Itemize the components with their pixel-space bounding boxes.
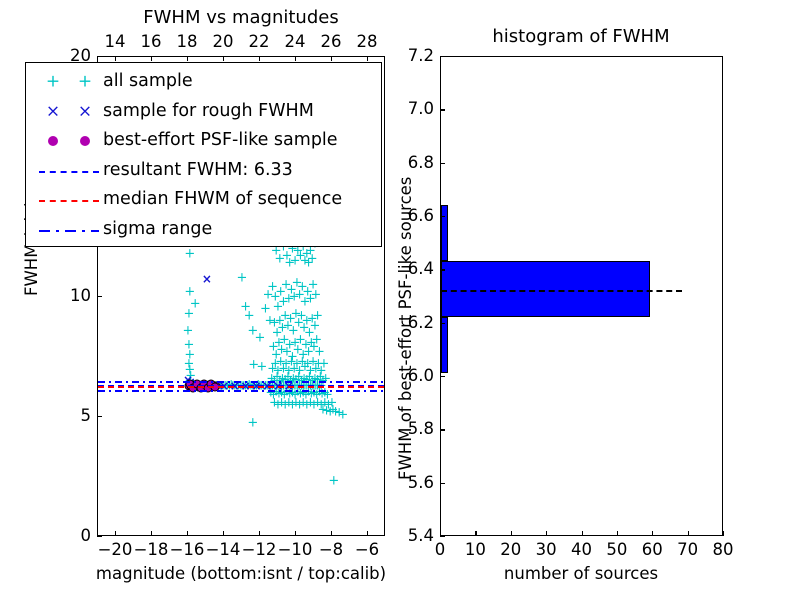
scatter-point: +	[282, 346, 293, 359]
scatter-point: +	[295, 250, 306, 263]
plus-icon: +	[46, 74, 60, 91]
axis-tick	[723, 531, 724, 536]
axis-tick	[440, 56, 445, 57]
axis-tick	[440, 536, 445, 537]
histogram-bar	[441, 261, 650, 317]
scatter-point: +	[184, 364, 195, 377]
scatter-xlabel: magnitude (bottom:isnt / top:calib)	[96, 566, 386, 583]
scatter-point: +	[309, 341, 320, 354]
scatter-point: +	[287, 399, 298, 412]
axis-tick-label: 26	[321, 34, 342, 51]
axis-tick	[617, 531, 618, 536]
scatter-point: +	[327, 403, 338, 416]
axis-tick-label: −20	[98, 542, 133, 559]
scatter-point: +	[183, 307, 194, 320]
scatter-point: +	[283, 293, 294, 306]
scatter-point: +	[334, 407, 345, 420]
scatter-point: +	[300, 339, 311, 352]
scatter-point: +	[325, 406, 336, 419]
scatter-point: +	[284, 339, 295, 352]
axis-tick	[367, 531, 368, 536]
scatter-point: +	[294, 365, 305, 378]
axis-tick	[440, 269, 445, 270]
scatter-point: +	[255, 331, 266, 344]
legend-item: sigma range	[26, 215, 381, 245]
axis-tick	[652, 531, 653, 536]
axis-tick	[688, 531, 689, 536]
scatter-point: +	[290, 336, 301, 349]
scatter-point: +	[300, 255, 311, 268]
scatter-point: +	[265, 387, 276, 400]
scatter-point: +	[283, 396, 294, 409]
scatter-point: +	[327, 396, 338, 409]
scatter-point: +	[319, 387, 330, 400]
scatter-point: +	[306, 336, 317, 349]
axis-tick	[259, 56, 260, 61]
histogram-ylabel: FWHM of best-effort PSF-like sources	[398, 177, 415, 480]
scatter-point: +	[309, 387, 320, 400]
scatter-point: +	[311, 334, 322, 347]
dashed-line-icon	[39, 200, 99, 202]
axis-tick	[440, 216, 445, 217]
scatter-point: +	[305, 396, 316, 409]
scatter-point: +	[267, 363, 278, 376]
scatter-point: ×	[202, 273, 212, 285]
axis-tick-label: 0	[435, 542, 446, 559]
dash-dot-line-icon	[35, 217, 103, 243]
scatter-point: +	[289, 363, 300, 376]
scatter-point: +	[280, 399, 291, 412]
axis-tick	[440, 109, 445, 110]
axis-tick	[440, 483, 445, 484]
axis-tick-label: −16	[170, 542, 205, 559]
reference-line	[98, 390, 384, 392]
axis-tick-label: 22	[249, 34, 270, 51]
axis-tick	[97, 56, 102, 57]
scatter-point: +	[184, 247, 195, 260]
plus-icon: +	[78, 74, 92, 91]
legend-item-label: best-effort PSF-like sample	[103, 132, 338, 150]
scatter-point: +	[244, 310, 255, 323]
axis-tick	[223, 531, 224, 536]
scatter-point: +	[314, 346, 325, 359]
axis-tick	[295, 531, 296, 536]
cross-icon: ×	[78, 103, 92, 120]
scatter-point: +	[318, 403, 329, 416]
scatter-point: +	[319, 396, 330, 409]
cross-icon: ×	[46, 103, 60, 120]
legend-item-label: all sample	[103, 73, 193, 91]
dash-dot-line-icon	[39, 230, 99, 233]
scatter-point: +	[298, 387, 309, 400]
scatter-point: +	[287, 387, 298, 400]
scatter-point: +	[299, 322, 310, 335]
axis-tick	[511, 531, 512, 536]
axis-tick-label: 7.2	[390, 48, 434, 65]
axis-tick-label: −14	[206, 542, 241, 559]
scatter-point: +	[273, 300, 284, 313]
axis-tick-label: −18	[134, 542, 169, 559]
reference-line	[98, 381, 384, 383]
axis-tick	[367, 56, 368, 61]
legend-item-label: median FHWM of sequence	[103, 191, 342, 209]
dashed-line-icon	[35, 187, 103, 213]
legend: ++all sample××sample for rough FWHMbest-…	[25, 62, 382, 247]
scatter-point: +	[269, 317, 280, 330]
scatter-point: +	[291, 307, 302, 320]
legend-item-label: sigma range	[103, 221, 212, 239]
cross-icon: ××	[35, 99, 103, 125]
scatter-point: +	[285, 312, 296, 325]
scatter-point: +	[279, 334, 290, 347]
scatter-point: +	[298, 396, 309, 409]
scatter-point: +	[183, 324, 194, 337]
axis-tick	[223, 56, 224, 61]
scatter-point: +	[184, 348, 195, 361]
scatter-point: +	[303, 346, 314, 359]
histogram-bar	[441, 205, 448, 261]
axis-tick	[440, 376, 445, 377]
scatter-point: +	[328, 474, 339, 487]
axis-tick	[475, 531, 476, 536]
legend-item: median FHWM of sequence	[26, 185, 381, 215]
scatter-point: +	[312, 396, 323, 409]
axis-tick	[295, 56, 296, 61]
axis-tick	[259, 531, 260, 536]
axis-tick-label: 16	[141, 34, 162, 51]
scatter-point: +	[247, 324, 258, 337]
scatter-point: +	[291, 276, 302, 289]
scatter-point: +	[307, 252, 318, 265]
axis-tick-label: 5	[51, 408, 91, 425]
axis-tick-label: 5.4	[390, 528, 434, 545]
scatter-point: +	[292, 343, 303, 356]
plus-icon: ++	[35, 69, 103, 95]
scatter-point: +	[281, 279, 292, 292]
scatter-point: +	[183, 358, 194, 371]
scatter-point: +	[280, 310, 291, 323]
scatter-point: +	[270, 291, 281, 304]
axis-tick-label: 50	[606, 542, 627, 559]
scatter-point: +	[237, 271, 248, 284]
legend-item: ××sample for rough FWHM	[26, 97, 381, 127]
scatter-point: +	[190, 298, 201, 311]
scatter-point: +	[316, 399, 327, 412]
axis-tick	[187, 531, 188, 536]
scatter-point: +	[321, 405, 332, 418]
scatter-point: +	[267, 281, 278, 294]
axis-tick-label: −6	[355, 542, 379, 559]
legend-item-label: resultant FWHM: 6.33	[103, 162, 293, 180]
scatter-point: +	[312, 310, 323, 323]
scatter-point: +	[293, 317, 304, 330]
filled-circle-icon	[48, 136, 58, 146]
axis-tick-label: 18	[177, 34, 198, 51]
axis-tick-label: 14	[105, 34, 126, 51]
axis-tick	[151, 56, 152, 61]
scatter-point: +	[282, 250, 293, 263]
filled-circle-icon	[35, 128, 103, 154]
reference-line	[98, 386, 384, 388]
scatter-point: +	[256, 360, 267, 373]
scatter-point: +	[304, 327, 315, 340]
scatter-point: +	[284, 257, 295, 270]
scatter-point: +	[308, 279, 319, 292]
scatter-point: +	[263, 288, 274, 301]
scatter-point: +	[260, 303, 271, 316]
scatter-point: +	[294, 399, 305, 412]
scatter-point: +	[286, 355, 297, 368]
scatter-point: +	[283, 365, 294, 378]
scatter-point: +	[310, 363, 321, 376]
scatter-point: +	[264, 315, 275, 328]
scatter-point: +	[300, 360, 311, 373]
axis-tick-label: 24	[285, 34, 306, 51]
scatter-point: +	[323, 399, 334, 412]
scatter-point: +	[301, 315, 312, 328]
axis-tick-label: 60	[642, 542, 663, 559]
histogram-xlabel: number of sources	[504, 566, 658, 583]
axis-tick-label: 30	[536, 542, 557, 559]
dashed-line-icon	[35, 158, 103, 184]
figure-canvas: FWHM vs magnitudes +++++++++++++++++++++…	[0, 0, 800, 600]
scatter-point: +	[302, 358, 313, 371]
scatter-point: +	[278, 363, 289, 376]
scatter-point: +	[330, 406, 341, 419]
scatter-point: +	[277, 322, 288, 335]
scatter-point: +	[274, 252, 285, 265]
scatter-point: +	[309, 399, 320, 412]
scatter-point: +	[274, 315, 285, 328]
scatter-point: +	[307, 312, 318, 325]
legend-item: ++all sample	[26, 67, 381, 97]
scatter-point: +	[276, 387, 287, 400]
scatter-point: +	[271, 348, 282, 361]
axis-tick	[115, 531, 116, 536]
axis-tick-label: −8	[319, 542, 343, 559]
scatter-point: +	[290, 255, 301, 268]
axis-tick-label: 20	[500, 542, 521, 559]
scatter-point: +	[301, 399, 312, 412]
axis-tick	[440, 323, 445, 324]
scatter-point: +	[300, 295, 311, 308]
scatter-point: +	[247, 417, 258, 430]
axis-tick-label: −10	[278, 542, 313, 559]
histogram-title: histogram of FWHM	[492, 28, 669, 46]
axis-tick	[331, 56, 332, 61]
legend-item: resultant FWHM: 6.33	[26, 156, 381, 186]
axis-tick-label: −12	[242, 542, 277, 559]
axis-tick	[187, 56, 188, 61]
scatter-point: +	[309, 319, 320, 332]
scatter-point: +	[273, 365, 284, 378]
scatter-point: +	[291, 396, 302, 409]
scatter-point: +	[288, 324, 299, 337]
scatter-point: +	[303, 257, 314, 270]
axis-tick	[546, 531, 547, 536]
scatter-point: +	[297, 281, 308, 294]
scatter-point: +	[316, 365, 327, 378]
scatter-point: +	[337, 408, 348, 421]
scatter-point: +	[291, 358, 302, 371]
scatter-point: +	[318, 358, 329, 371]
scatter-point: +	[287, 351, 298, 364]
legend-item: best-effort PSF-like sample	[26, 126, 381, 156]
scatter-point: +	[297, 355, 308, 368]
axis-tick	[331, 531, 332, 536]
scatter-point: +	[276, 396, 287, 409]
scatter-point: +	[296, 310, 307, 323]
scatter-point: +	[269, 396, 280, 409]
histogram-median-line	[441, 290, 682, 292]
scatter-point: +	[298, 348, 309, 361]
axis-tick	[97, 536, 102, 537]
axis-tick-label: 20	[213, 34, 234, 51]
scatter-point: +	[301, 247, 312, 260]
axis-tick	[440, 429, 445, 430]
axis-tick	[97, 296, 102, 297]
scatter-point: +	[282, 319, 293, 332]
scatter-point: +	[275, 355, 286, 368]
axis-tick-label: 80	[713, 542, 734, 559]
axis-tick-label: 6.8	[390, 154, 434, 171]
axis-tick-label: 7.0	[390, 101, 434, 118]
scatter-point: +	[270, 358, 281, 371]
scatter-point: +	[305, 365, 316, 378]
scatter-point: +	[302, 286, 313, 299]
scatter-point: +	[313, 358, 324, 371]
axis-tick-label: 40	[571, 542, 592, 559]
dashed-line-icon	[39, 171, 99, 173]
scatter-point: +	[273, 336, 284, 349]
scatter-point: +	[286, 283, 297, 296]
axis-tick-label: 0	[51, 528, 91, 545]
axis-tick	[582, 531, 583, 536]
scatter-point: +	[275, 286, 286, 299]
filled-circle-icon	[80, 136, 90, 146]
axis-tick	[440, 163, 445, 164]
histogram-bar	[441, 317, 448, 373]
scatter-point: +	[305, 293, 316, 306]
scatter-point: +	[268, 341, 279, 354]
axis-tick	[115, 56, 116, 61]
scatter-point: +	[308, 355, 319, 368]
axis-tick	[151, 531, 152, 536]
scatter-point: +	[240, 300, 251, 313]
scatter-point: +	[183, 339, 194, 352]
axis-tick-label: 10	[465, 542, 486, 559]
axis-tick-label: 10	[51, 288, 91, 305]
axis-tick-label: 28	[357, 34, 378, 51]
scatter-point: +	[273, 399, 284, 412]
scatter-point: +	[272, 327, 283, 340]
scatter-point: +	[294, 288, 305, 301]
scatter-point: +	[310, 288, 321, 301]
histogram-plot-area	[441, 57, 722, 535]
scatter-point: +	[248, 359, 259, 372]
scatter-point: +	[281, 358, 292, 371]
histogram-axes	[440, 56, 723, 536]
axis-tick	[97, 416, 102, 417]
axis-tick-label: 70	[677, 542, 698, 559]
scatter-point: +	[278, 295, 289, 308]
scatter-point: +	[184, 286, 195, 299]
scatter-title: FWHM vs magnitudes	[143, 9, 338, 27]
scatter-point: +	[289, 291, 300, 304]
scatter-point: +	[276, 343, 287, 356]
scatter-point: +	[295, 334, 306, 347]
legend-item-label: sample for rough FWHM	[103, 103, 314, 121]
